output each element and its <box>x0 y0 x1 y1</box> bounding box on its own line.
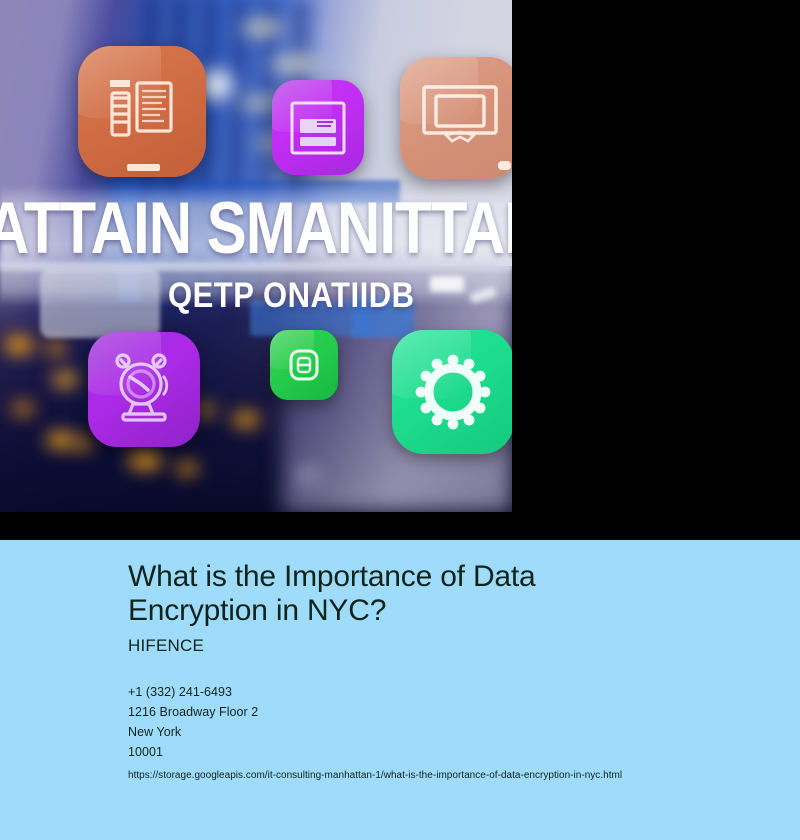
hero-subheadline: QETP ONATIIDB <box>168 277 414 313</box>
gear-glyph <box>392 330 512 454</box>
server-glyph <box>272 80 364 175</box>
gear-icon <box>392 330 512 454</box>
hero-section: ATTAIN SMANITTAI QETP ONATIIDB <box>0 0 800 540</box>
contact-zip: 10001 <box>128 742 760 762</box>
source-url[interactable]: https://storage.googleapis.com/it-consul… <box>128 770 760 781</box>
monitor-icon <box>400 57 512 179</box>
info-panel: What is the Importance of Data Encryptio… <box>0 540 800 840</box>
document-base-bar <box>127 164 160 171</box>
contact-block: +1 (332) 241-6493 1216 Broadway Floor 2 … <box>128 682 760 762</box>
brand-name: HIFENCE <box>128 636 760 656</box>
contact-phone[interactable]: +1 (332) 241-6493 <box>128 682 760 702</box>
lock-glyph <box>270 330 338 400</box>
hero-glint <box>430 276 464 292</box>
lock-icon <box>270 330 338 400</box>
monitor-glyph <box>400 57 512 179</box>
monitor-indicator <box>498 161 511 170</box>
contact-street: 1216 Broadway Floor 2 <box>128 702 760 722</box>
hero-headline: ATTAIN SMANITTAI <box>0 192 512 265</box>
clock-glyph <box>88 332 200 447</box>
hero-image: ATTAIN SMANITTAI QETP ONATIIDB <box>0 0 512 512</box>
document-glyph <box>78 46 206 177</box>
document-icon <box>78 46 206 177</box>
clock-icon <box>88 332 200 447</box>
contact-city: New York <box>128 722 760 742</box>
page-title: What is the Importance of Data Encryptio… <box>128 560 598 627</box>
server-icon <box>272 80 364 175</box>
